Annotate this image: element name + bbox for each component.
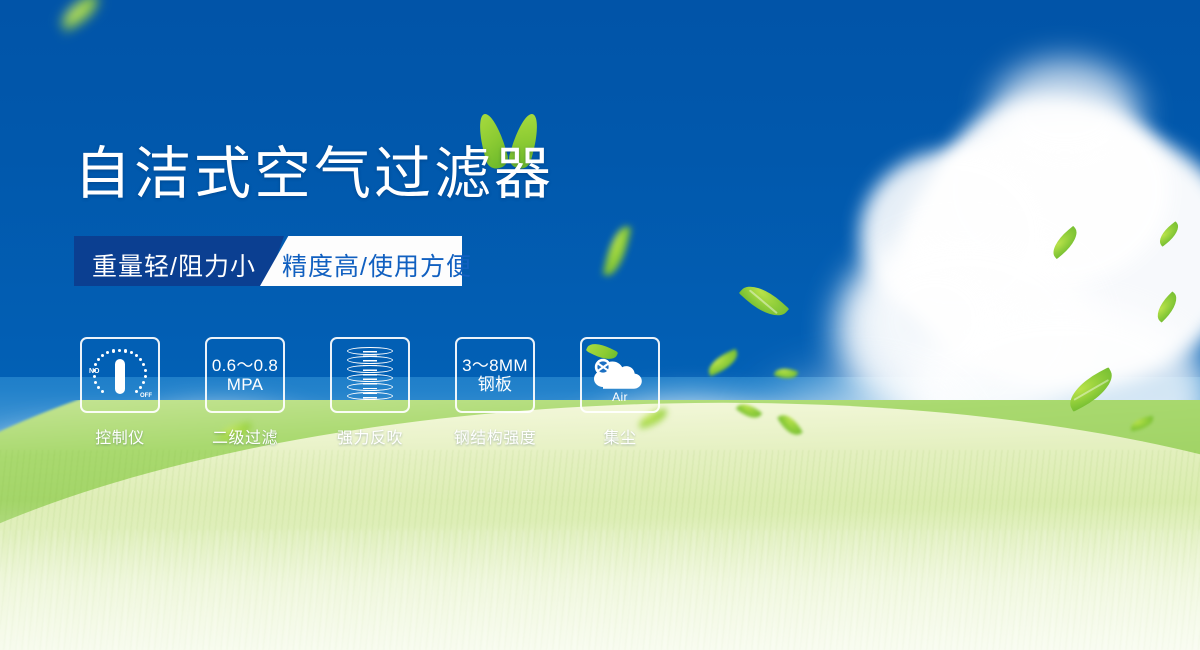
pressure-unit: MPA [212, 375, 278, 394]
gauge-on-label: NO [89, 368, 100, 375]
feature-icon-box: 3〜8MM 钢板 [455, 337, 535, 413]
feature-label: 控制仪 [95, 424, 145, 448]
feature-list: NO OFF 控制仪 0.6〜0.8 MPA 二级过滤 [80, 337, 660, 448]
feature-item-controller[interactable]: NO OFF 控制仪 [80, 337, 160, 448]
pressure-value: 0.6〜0.8 [212, 356, 278, 375]
feature-item-dust[interactable]: Air 集尘 [580, 337, 660, 448]
feature-label: 强力反吹 [337, 424, 403, 448]
subtitle-left-text: 重量轻/阻力小 [92, 247, 256, 283]
product-banner: 自洁式空气过滤器 重量轻/阻力小 精度高/使用方便 [0, 0, 1200, 650]
cloud-shape [860, 250, 1010, 390]
sunlight-wash [0, 500, 1200, 650]
steel-material: 钢板 [462, 375, 528, 394]
cloud-shape [990, 60, 1140, 170]
coil-filter-icon [347, 347, 393, 403]
gauge-needle [115, 359, 125, 394]
page-title: 自洁式空气过滤器 [74, 146, 554, 203]
gauge-off-label: OFF [140, 393, 152, 399]
feature-icon-box [330, 337, 410, 413]
feature-item-backblow[interactable]: 强力反吹 [330, 337, 410, 448]
feature-label: 钢结构强度 [454, 424, 537, 448]
feature-icon-box: Air [580, 337, 660, 413]
feature-icon-box: 0.6〜0.8 MPA [205, 337, 285, 413]
steel-thickness: 3〜8MM [462, 356, 528, 375]
feature-label: 二级过滤 [212, 424, 278, 448]
pressure-text-icon: 0.6〜0.8 MPA [212, 356, 278, 394]
gauge-icon: NO OFF [90, 347, 150, 403]
air-caption: Air [589, 390, 651, 404]
subtitle-right-text: 精度高/使用方便 [282, 247, 472, 283]
feature-item-pressure[interactable]: 0.6〜0.8 MPA 二级过滤 [205, 337, 285, 448]
subtitle-bar: 重量轻/阻力小 精度高/使用方便 [74, 236, 462, 286]
feature-label: 集尘 [603, 424, 636, 448]
steel-text-icon: 3〜8MM 钢板 [462, 356, 528, 394]
feature-icon-box: NO OFF [80, 337, 160, 413]
cloud-air-icon: Air [589, 347, 651, 403]
feature-item-steel[interactable]: 3〜8MM 钢板 钢结构强度 [455, 337, 535, 448]
